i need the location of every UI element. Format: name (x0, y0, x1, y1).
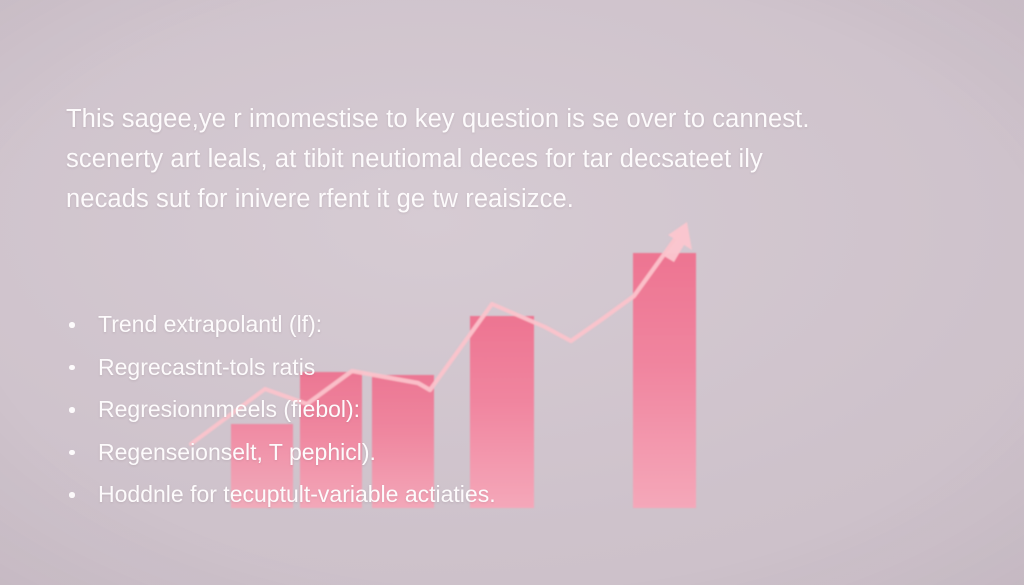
paragraph-line-2: scenerty art leals, at tibit neutiomal d… (66, 139, 946, 179)
list-item: Regrecastnt-tols ratis (66, 346, 496, 389)
body-paragraph: This sagee,ye r imomestise to key questi… (66, 99, 946, 219)
bullet-dot-icon (69, 322, 75, 328)
bullet-dot-icon (69, 450, 75, 456)
list-item: Trend extrapolantl (lf): (66, 303, 496, 346)
slide-canvas: This sagee,ye r imomestise to key questi… (0, 0, 1024, 585)
bullet-dot-icon (69, 407, 75, 413)
list-item: Hoddnle for tecuptult-variable actiaties… (66, 473, 496, 516)
paragraph-line-3: necads sut for inivere rfent it ge tw re… (66, 179, 946, 219)
list-item-label: Regrecastnt-tols ratis (98, 346, 315, 389)
list-item-label: Regenseionselt, T pephicl). (98, 431, 376, 474)
list-item: Regenseionselt, T pephicl). (66, 431, 496, 474)
list-item: Regresionnmeels (fiebol): (66, 388, 496, 431)
bullet-list: Trend extrapolantl (lf): Regrecastnt-tol… (66, 303, 496, 516)
list-item-label: Trend extrapolantl (lf): (98, 303, 322, 346)
paragraph-line-1: This sagee,ye r imomestise to key questi… (66, 99, 946, 139)
bullet-dot-icon (69, 365, 75, 371)
list-item-label: Hoddnle for tecuptult-variable actiaties… (98, 473, 496, 516)
bullet-dot-icon (69, 492, 75, 498)
list-item-label: Regresionnmeels (fiebol): (98, 388, 360, 431)
text-layer: This sagee,ye r imomestise to key questi… (0, 0, 1024, 585)
